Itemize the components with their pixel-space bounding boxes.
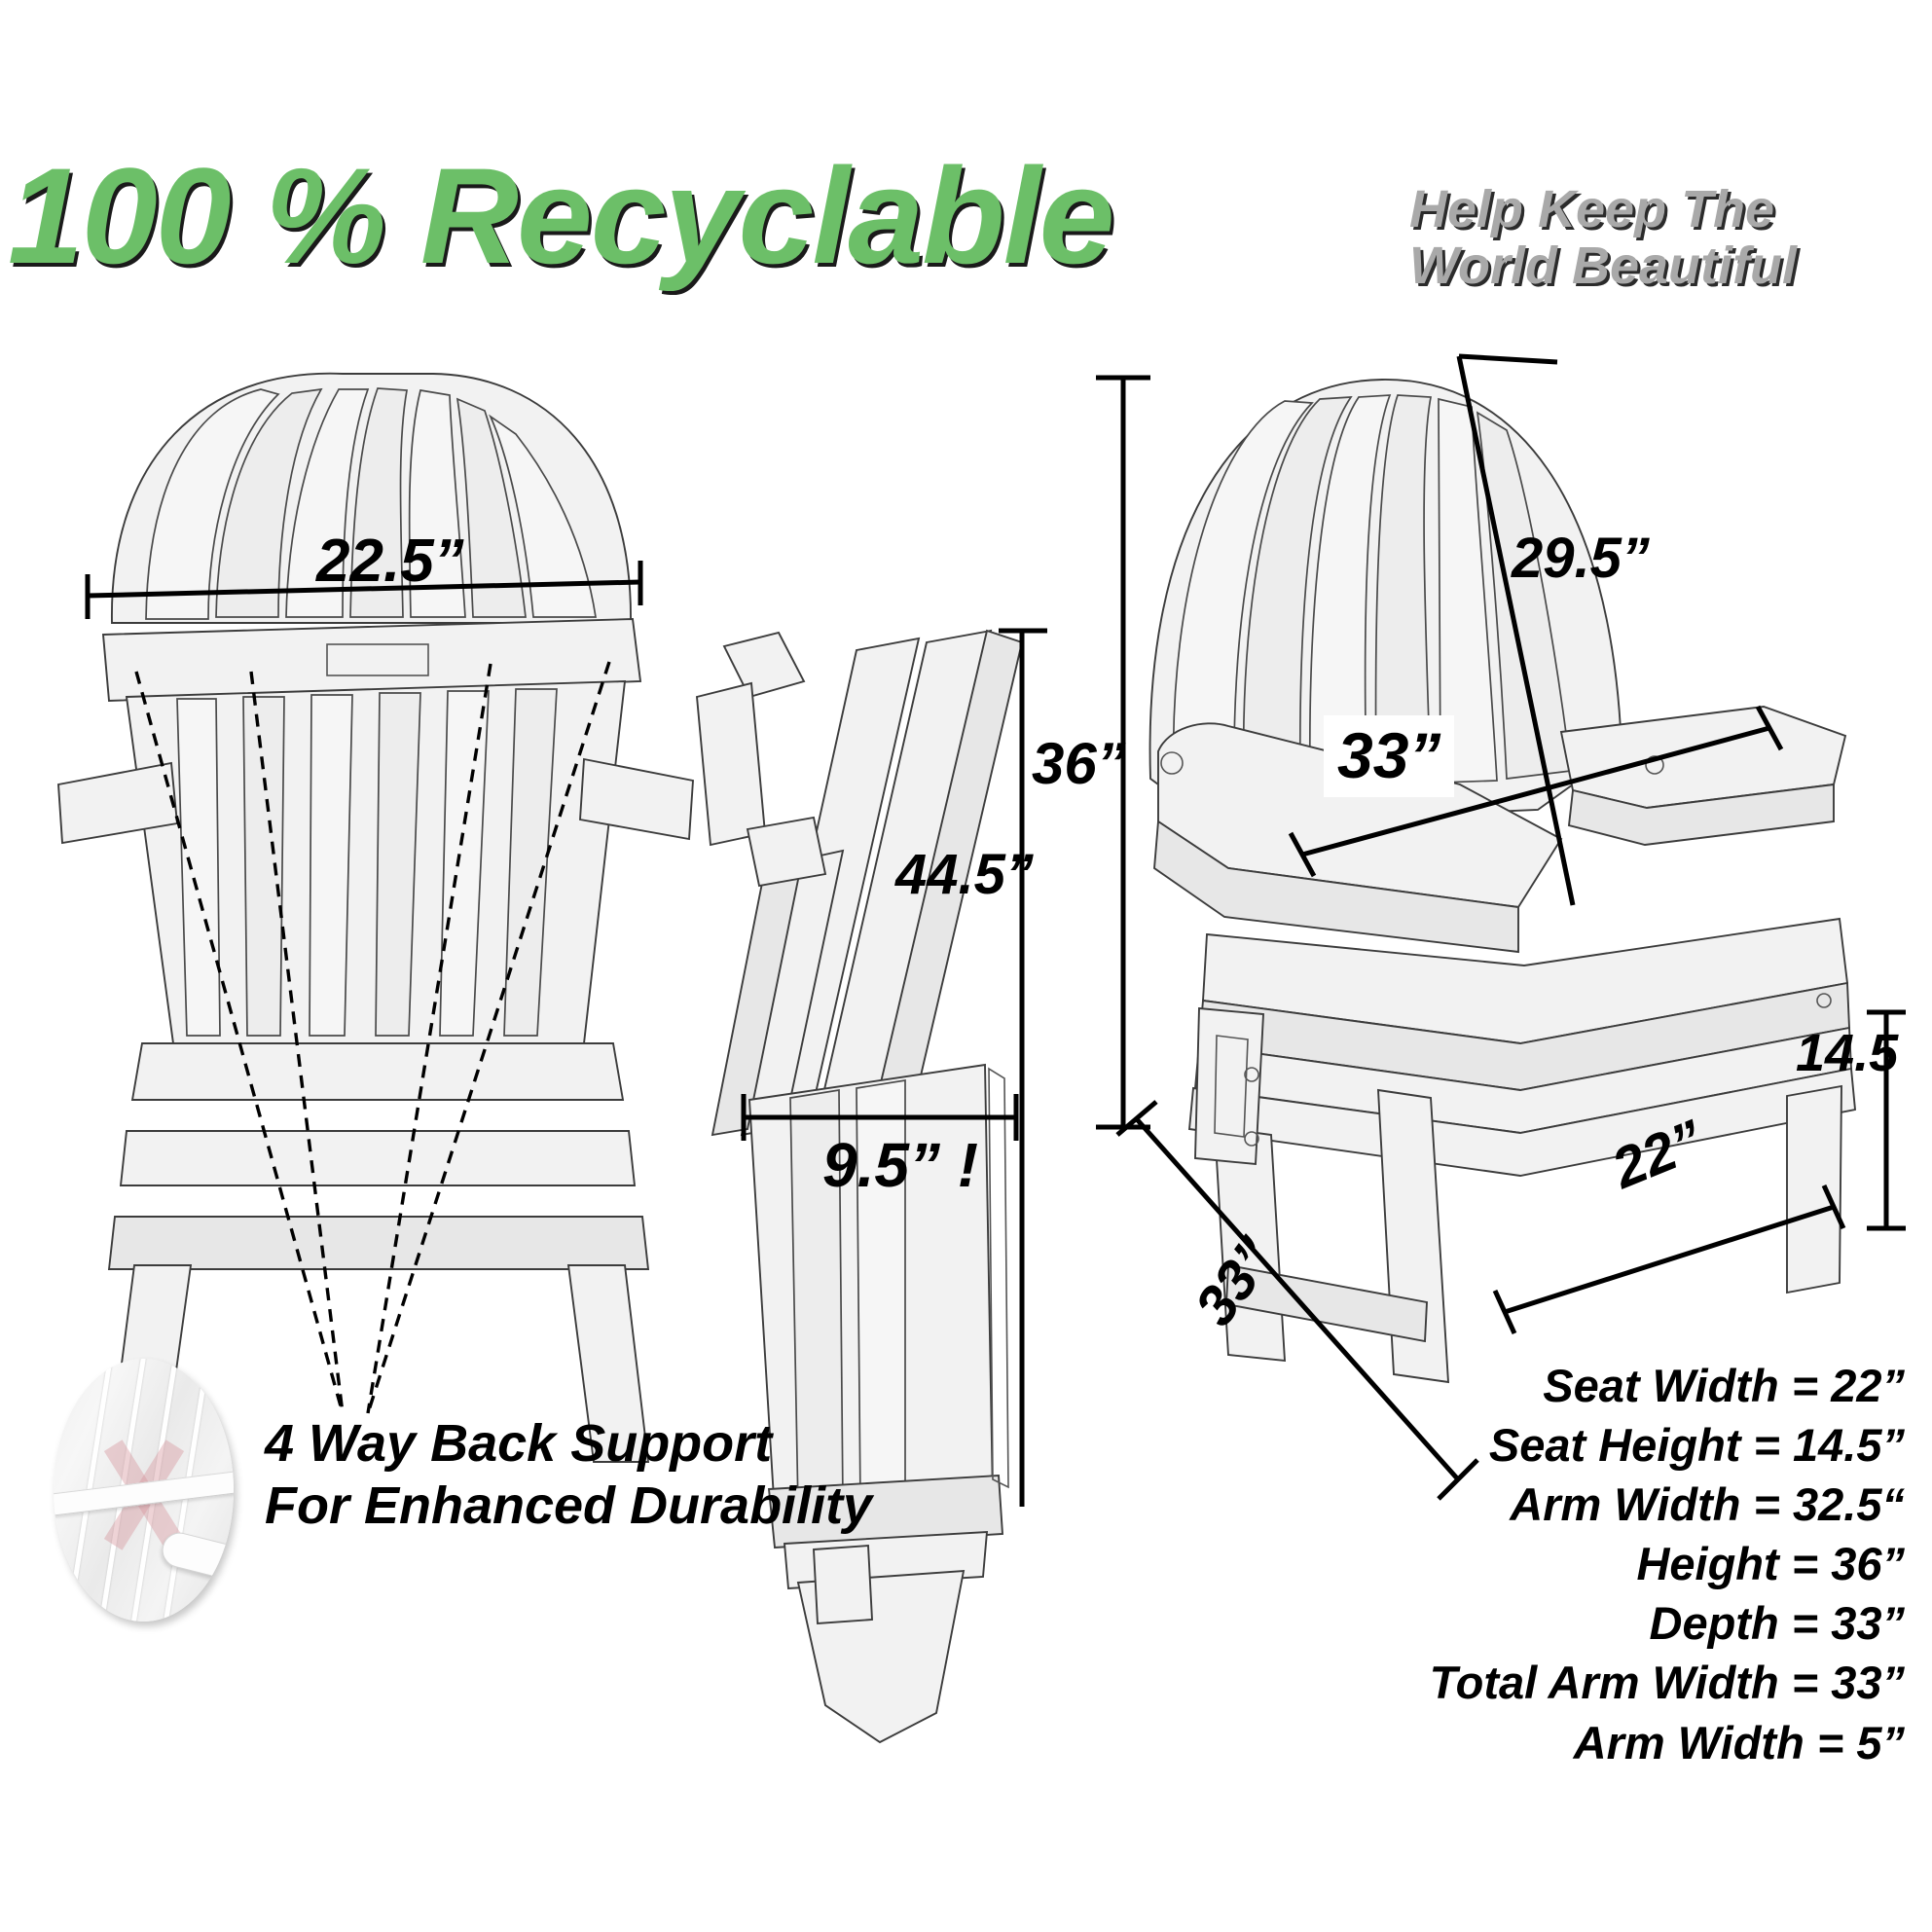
dimension-line-depth	[1117, 1102, 1477, 1499]
dimension-label-back-height: 29.5”	[1512, 530, 1650, 587]
dimension-label-folded-height: 44.5”	[895, 847, 1034, 903]
spec-item-depth: Depth = 33”	[1430, 1593, 1905, 1653]
back-support-caption-line-1: 4 Way Back Support	[265, 1413, 872, 1476]
spec-item-seat-height: Seat Height = 14.5”	[1430, 1415, 1905, 1475]
dimension-label-seat-depth: 22”	[1605, 1112, 1710, 1198]
spec-item-arm-width: Arm Width = 32.5“	[1430, 1475, 1905, 1534]
back-support-photo-inset	[54, 1359, 234, 1622]
dimension-label-seat-height: 14.5	[1796, 1027, 1898, 1079]
dimension-label-depth: 33”	[1186, 1228, 1286, 1335]
specification-list: Seat Width = 22” Seat Height = 14.5” Arm…	[1430, 1356, 1905, 1772]
page-title: 100 % Recyclable	[8, 148, 1112, 284]
tagline-line-1: Help Keep The	[1409, 181, 1915, 237]
dimension-line-back-height	[1459, 356, 1573, 905]
spec-item-arm-width-2: Arm Width = 5”	[1430, 1713, 1905, 1772]
back-support-leader-lines	[136, 662, 609, 1413]
inset-arm-rest	[159, 1528, 234, 1581]
dimension-line-seat-depth	[1495, 1185, 1843, 1333]
dimension-label-back-width: 22.5”	[316, 531, 464, 592]
spec-item-seat-width: Seat Width = 22”	[1430, 1356, 1905, 1415]
folded-chair-art	[697, 378, 1150, 1742]
spec-item-height: Height = 36”	[1430, 1534, 1905, 1593]
tagline: Help Keep The World Beautiful	[1409, 181, 1915, 295]
back-support-caption-line-2: For Enhanced Durability	[265, 1476, 872, 1538]
spec-item-total-arm-width: Total Arm Width = 33”	[1430, 1653, 1905, 1712]
back-support-caption: 4 Way Back Support For Enhanced Durabili…	[265, 1413, 872, 1537]
dimension-label-overall-height: 36”	[1032, 735, 1126, 793]
dimension-label-total-arm-width: 33”	[1324, 715, 1454, 797]
product-spec-diagram: 100 % Recyclable Help Keep The World Bea…	[0, 0, 1932, 1932]
tagline-line-2: World Beautiful	[1409, 237, 1915, 294]
dimension-label-folded-thickness: 9.5” !	[822, 1134, 978, 1196]
